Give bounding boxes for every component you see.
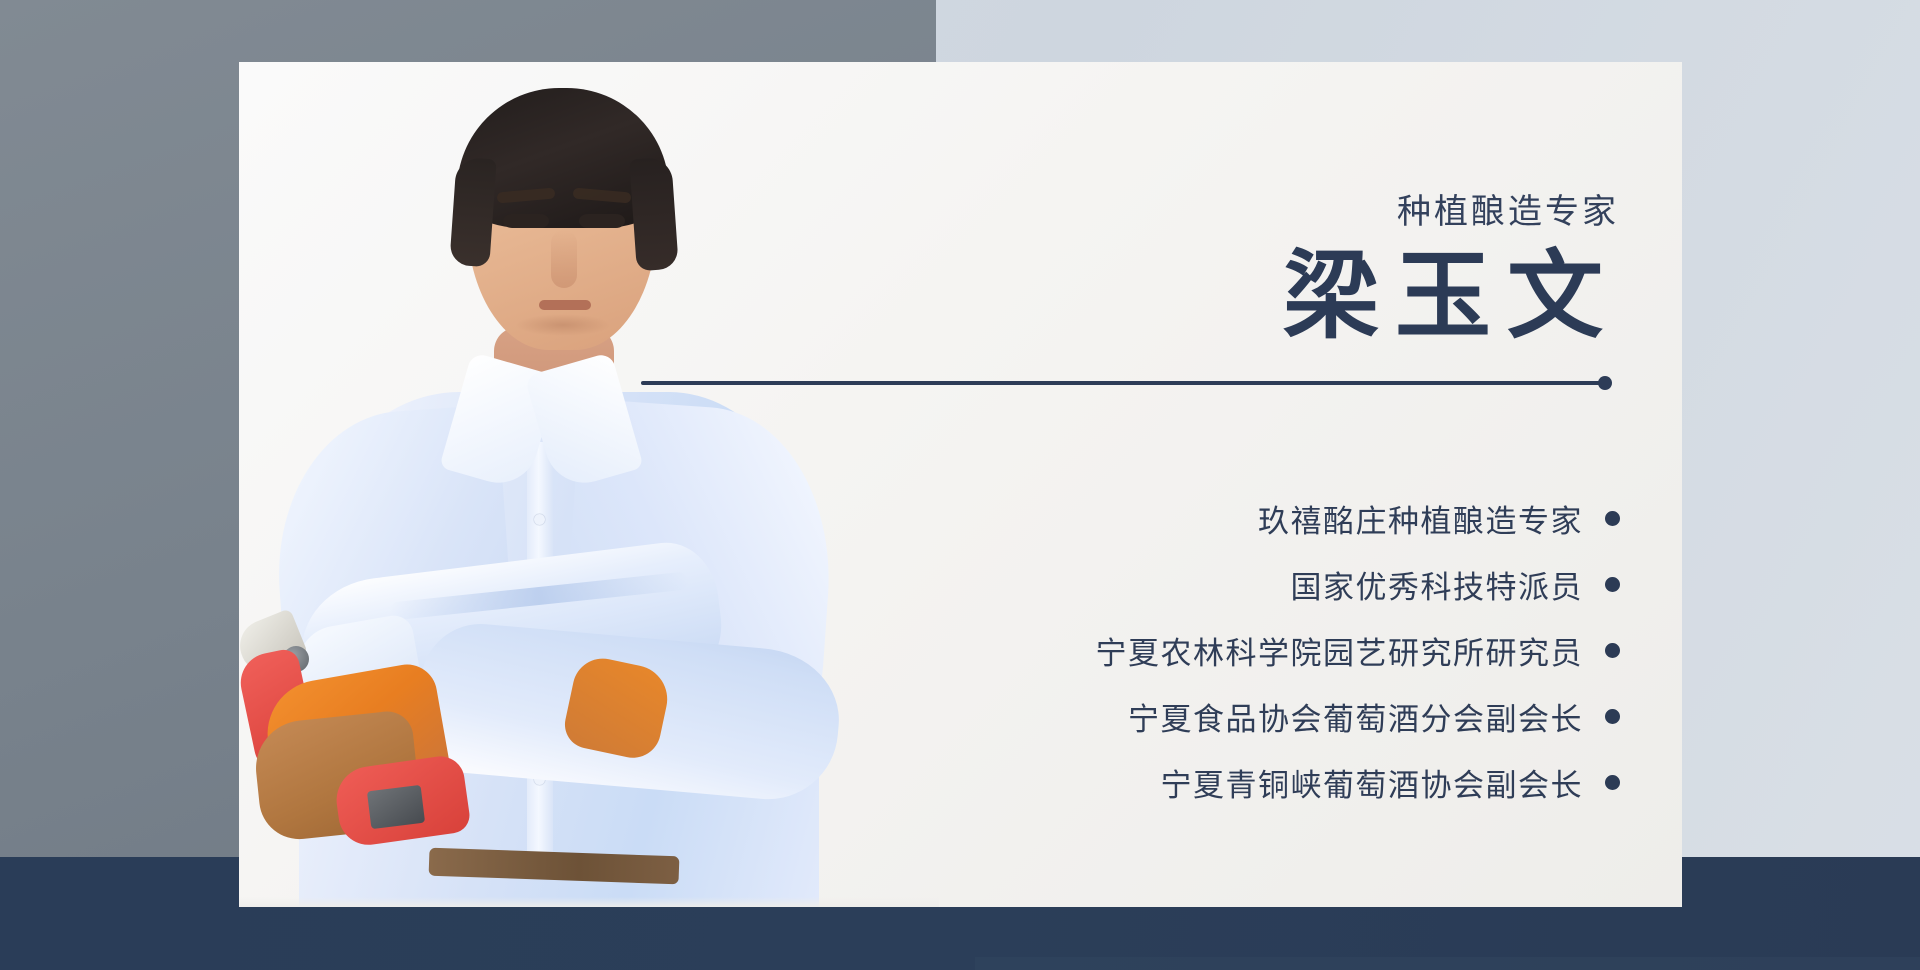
bullet-dot-icon (1605, 511, 1620, 526)
credential-text: 宁夏食品协会葡萄酒分会副会长 (1128, 694, 1583, 739)
credential-text: 玖禧酩庄种植酿造专家 (1258, 496, 1583, 541)
divider-line (641, 381, 1606, 385)
bullet-dot-icon (1605, 577, 1620, 592)
bullet-dot-icon (1605, 775, 1620, 790)
list-item: 宁夏食品协会葡萄酒分会副会长 (860, 683, 1620, 749)
list-item: 宁夏农林科学院园艺研究所研究员 (860, 617, 1620, 683)
credential-text: 宁夏农林科学院园艺研究所研究员 (1096, 628, 1584, 673)
profile-name: 梁玉文 (939, 242, 1619, 352)
list-item: 玖禧酩庄种植酿造专家 (860, 485, 1620, 551)
list-item: 宁夏青铜峡葡萄酒协会副会长 (860, 749, 1620, 815)
credential-text: 宁夏青铜峡葡萄酒协会副会长 (1161, 760, 1584, 805)
banner-stage: 种植酿造专家 梁玉文 玖禧酩庄种植酿造专家 国家优秀科技特派员 宁夏农林科学院园… (0, 0, 1920, 970)
profile-subtitle: 种植酿造专家 (939, 190, 1619, 234)
divider-end-dot (1598, 376, 1612, 390)
bullet-dot-icon (1605, 643, 1620, 658)
background-navy-sheen (975, 957, 1920, 970)
credential-text: 国家优秀科技特派员 (1291, 562, 1584, 607)
credentials-list: 玖禧酩庄种植酿造专家 国家优秀科技特派员 宁夏农林科学院园艺研究所研究员 宁夏食… (860, 485, 1620, 815)
list-item: 国家优秀科技特派员 (860, 551, 1620, 617)
bullet-dot-icon (1605, 709, 1620, 724)
